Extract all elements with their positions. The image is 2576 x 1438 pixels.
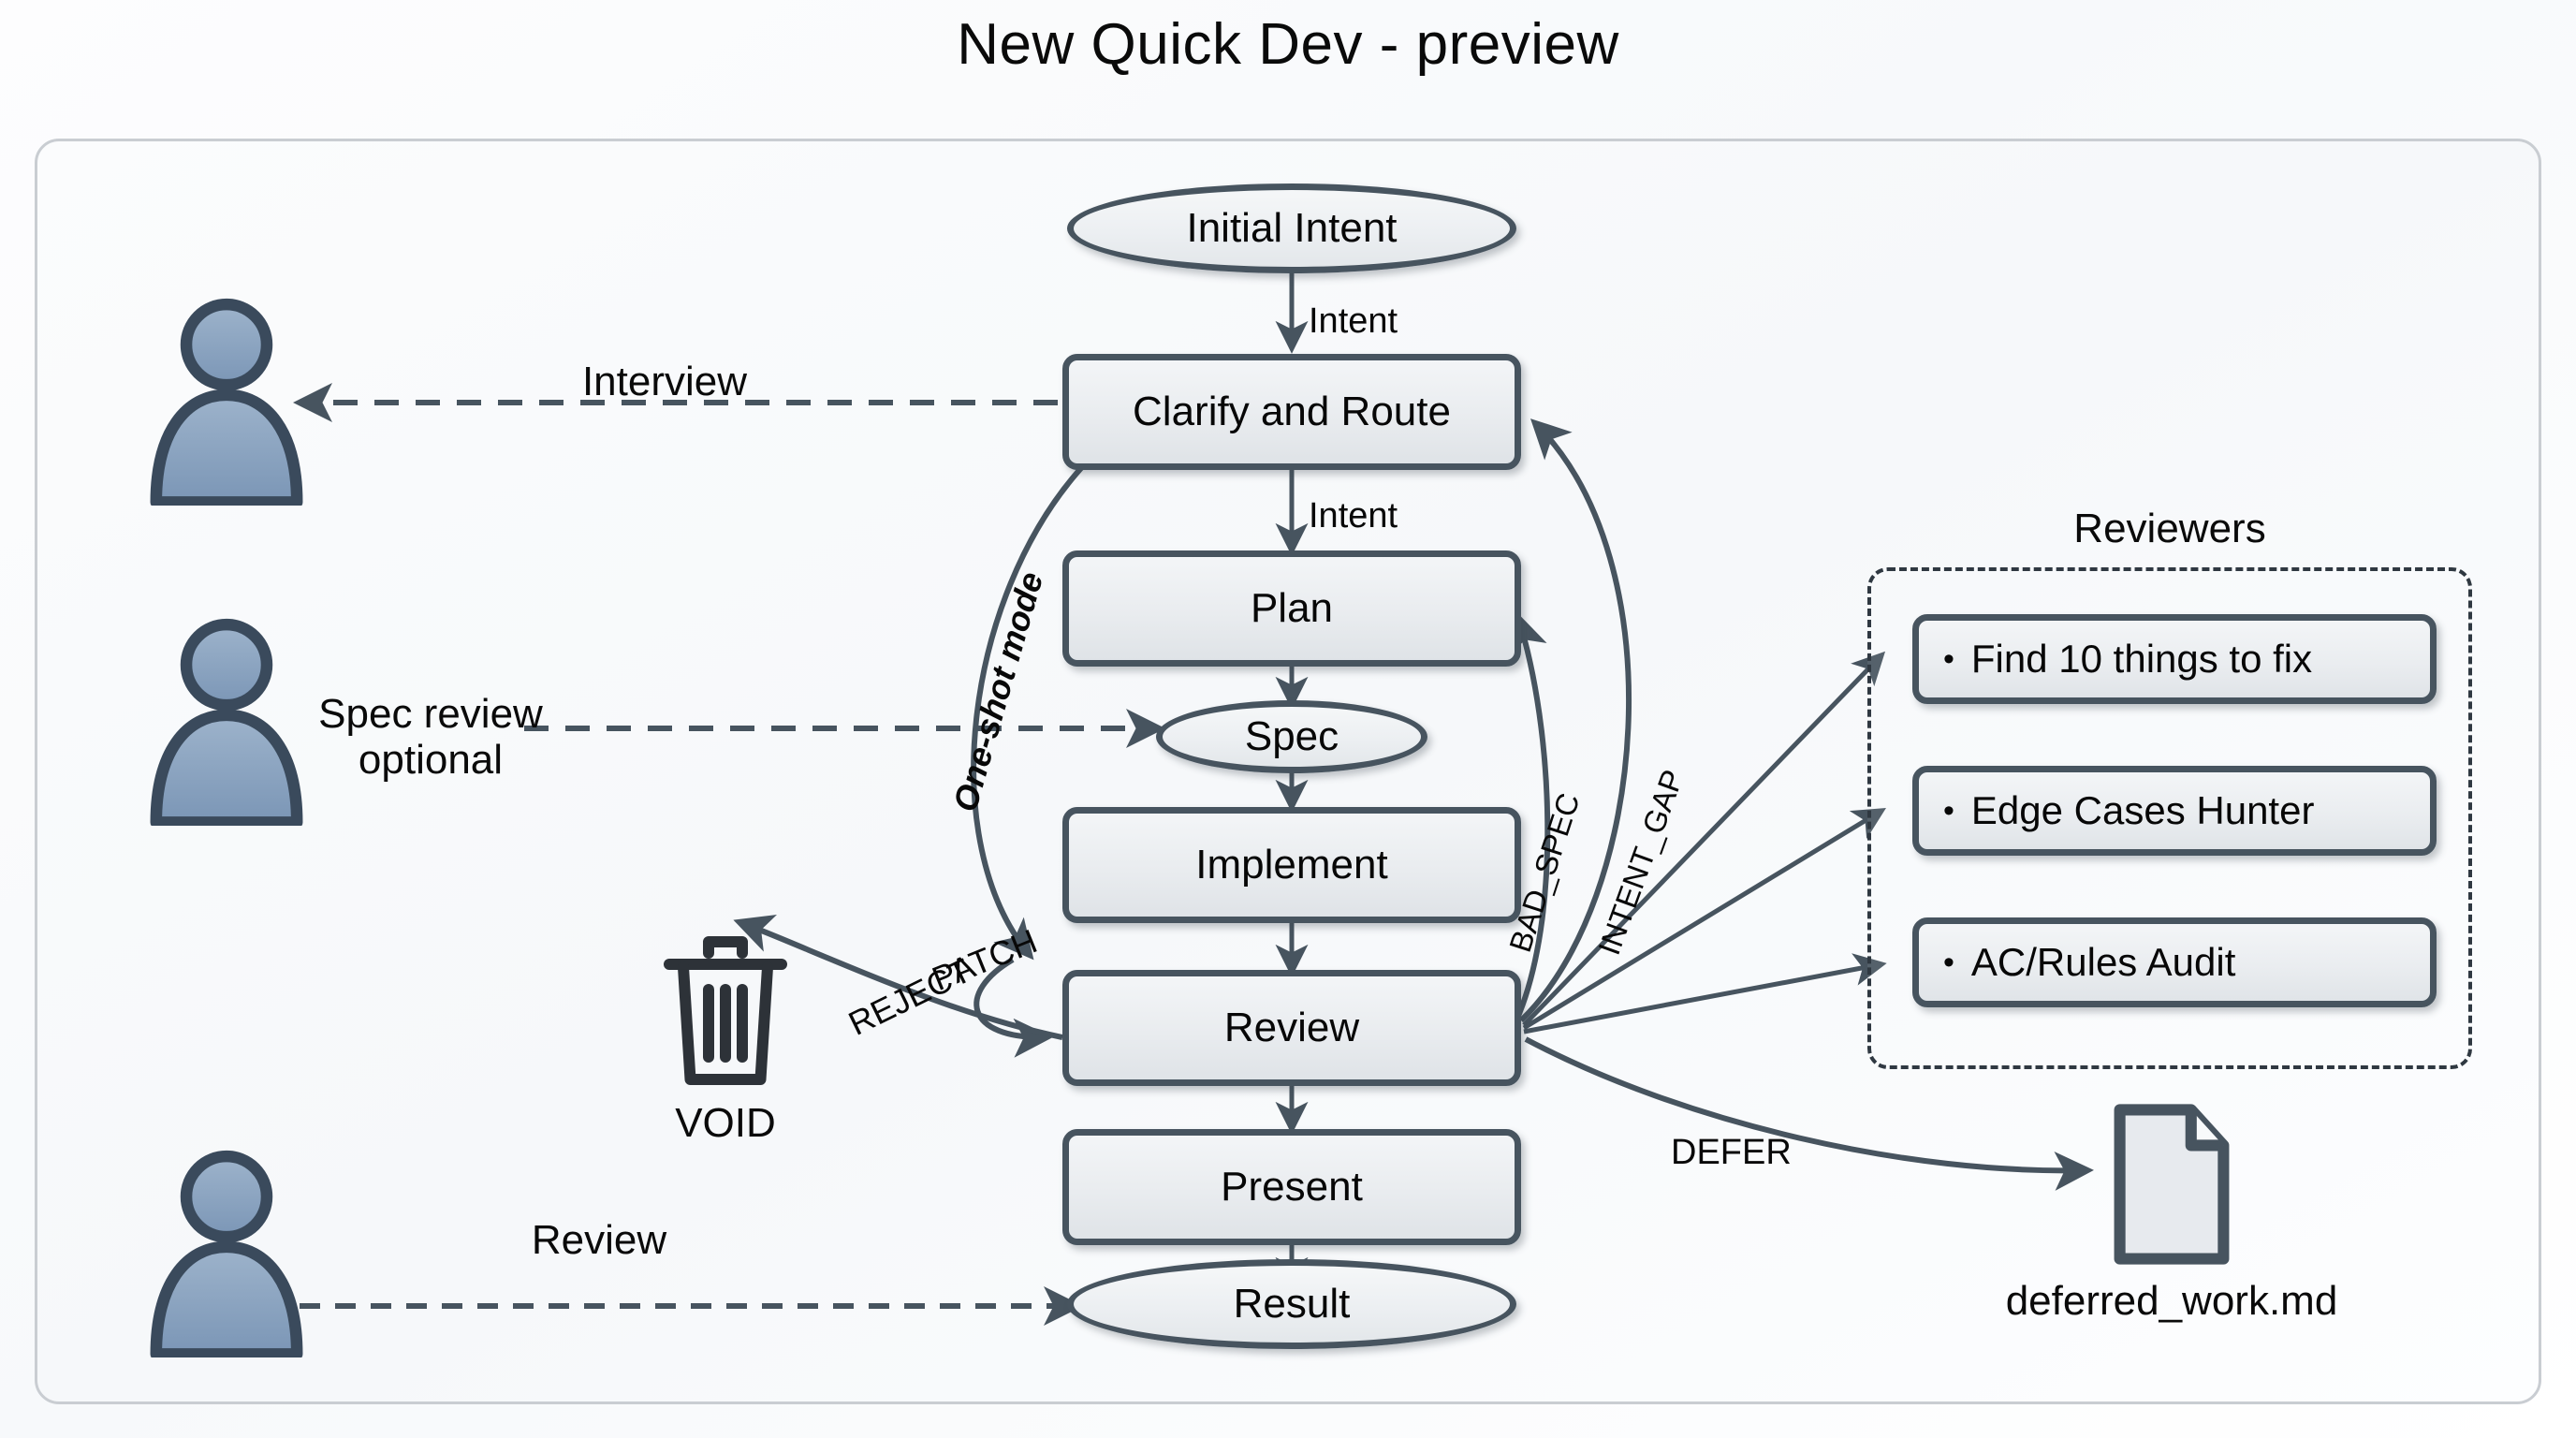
label-spec-review-optional: Spec review optional [281,691,580,784]
actor-result-reviewer[interactable] [142,1150,311,1357]
node-initial-intent[interactable]: Initial Intent [1067,183,1516,273]
bullet-icon: • [1943,795,1954,827]
edge-label-intent-2: Intent [1309,496,1398,536]
node-present[interactable]: Present [1062,1129,1521,1245]
label-interview: Interview [402,359,927,405]
node-spec[interactable]: Spec [1156,700,1427,773]
node-plan[interactable]: Plan [1062,550,1521,667]
reviewer-item-label: AC/Rules Audit [1971,940,2235,985]
diagram-canvas: New Quick Dev - preview [0,0,2576,1438]
node-implement-label: Implement [1195,842,1387,888]
void-label: VOID [655,1100,796,1147]
label-spec-review-line1: Spec review [281,691,580,737]
node-plan-label: Plan [1251,585,1333,632]
reviewer-item-ac-rules-audit[interactable]: • AC/Rules Audit [1912,917,2437,1007]
node-spec-label: Spec [1245,713,1339,760]
node-present-label: Present [1221,1164,1363,1211]
file-icon [2106,1100,2237,1269]
actor-interviewee[interactable] [142,298,311,506]
bullet-icon: • [1943,643,1954,675]
node-clarify-and-route-label: Clarify and Route [1133,389,1451,435]
reviewers-group-label: Reviewers [1867,506,2472,552]
edge-label-intent-1: Intent [1309,301,1398,342]
edge-label-defer: DEFER [1671,1133,1792,1173]
page-title: New Quick Dev - preview [0,11,2576,78]
reviewer-item-label: Edge Cases Hunter [1971,788,2315,833]
node-review[interactable]: Review [1062,970,1521,1086]
reviewer-item-find-10-things-to-fix[interactable]: • Find 10 things to fix [1912,614,2437,704]
trash-icon [655,936,796,1091]
node-implement[interactable]: Implement [1062,807,1521,923]
node-result[interactable]: Result [1067,1259,1516,1349]
node-result-label: Result [1234,1281,1351,1328]
bullet-icon: • [1943,946,1954,978]
deferred-file-label: deferred_work.md [1928,1278,2415,1325]
node-initial-intent-label: Initial Intent [1186,205,1397,252]
node-clarify-and-route[interactable]: Clarify and Route [1062,354,1521,470]
label-result-review: Review [412,1217,786,1264]
node-review-label: Review [1224,1005,1359,1051]
reviewer-item-label: Find 10 things to fix [1971,637,2312,682]
reviewer-item-edge-cases-hunter[interactable]: • Edge Cases Hunter [1912,766,2437,856]
label-spec-review-line2: optional [281,737,580,783]
